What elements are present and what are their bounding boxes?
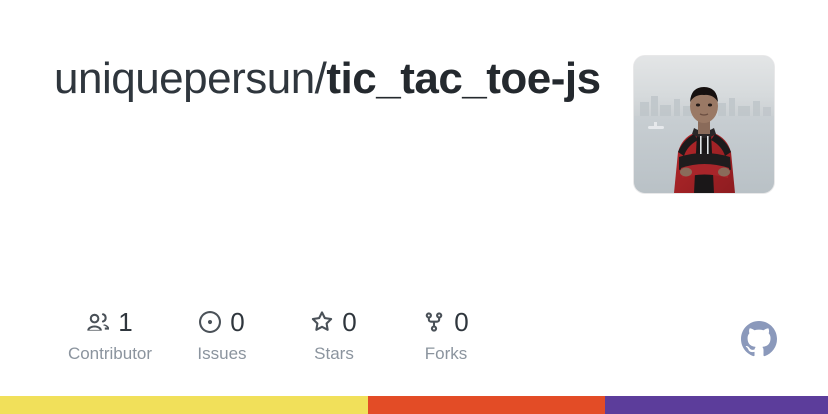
stat-contributors-count: 1 — [118, 308, 132, 336]
language-bar — [0, 396, 828, 414]
issue-opened-icon — [199, 311, 221, 333]
github-mark-icon — [741, 321, 777, 357]
repository-title-block: uniquepersun/tic_tac_toe-js — [54, 52, 614, 106]
repository-stats: 1 Contributor 0 Issues — [54, 308, 502, 365]
stat-stars-count: 0 — [342, 308, 356, 336]
star-icon — [311, 311, 333, 333]
stat-issues: 0 Issues — [166, 308, 278, 365]
language-segment-1 — [368, 396, 605, 414]
stat-stars-top: 0 — [311, 308, 356, 336]
stat-contributors: 1 Contributor — [54, 308, 166, 365]
stat-stars-label: Stars — [314, 343, 354, 365]
stat-forks-label: Forks — [425, 343, 468, 365]
stat-forks-count: 0 — [454, 308, 468, 336]
avatar-image — [634, 56, 774, 193]
stat-contributors-top: 1 — [87, 308, 132, 336]
repo-forked-icon — [423, 311, 445, 333]
language-segment-2 — [605, 396, 828, 414]
language-segment-0 — [0, 396, 368, 414]
repository-name: tic_tac_toe-js — [326, 54, 600, 103]
stat-forks: 0 Forks — [390, 308, 502, 365]
avatar — [634, 56, 774, 193]
stat-issues-label: Issues — [197, 343, 246, 365]
people-icon — [87, 311, 109, 333]
stat-forks-top: 0 — [423, 308, 468, 336]
stat-contributors-label: Contributor — [68, 343, 152, 365]
stat-stars: 0 Stars — [278, 308, 390, 365]
page-title: uniquepersun/tic_tac_toe-js — [54, 52, 614, 106]
stat-issues-top: 0 — [199, 308, 244, 336]
stat-issues-count: 0 — [230, 308, 244, 336]
repository-owner: uniquepersun/ — [54, 54, 326, 103]
repository-social-preview-card: uniquepersun/tic_tac_toe-js — [0, 0, 828, 414]
